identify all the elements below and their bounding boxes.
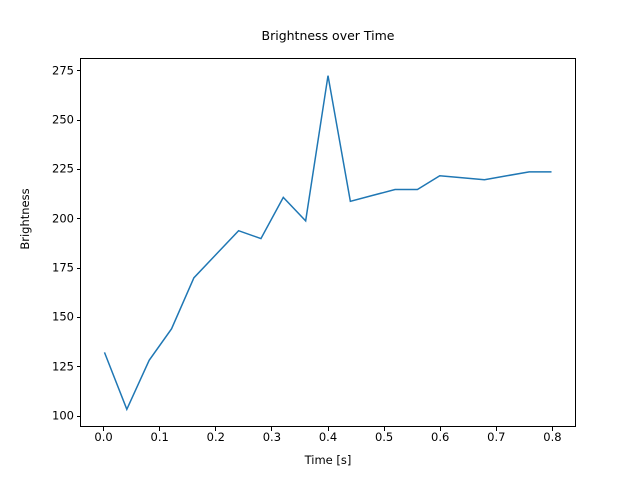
y-tick-label: 175 bbox=[34, 262, 74, 274]
y-tick-label: 275 bbox=[34, 65, 74, 77]
x-tick-label: 0.5 bbox=[361, 432, 407, 444]
y-tick-label: 125 bbox=[34, 361, 74, 373]
x-tick-label: 0.3 bbox=[249, 432, 295, 444]
x-axis-label: Time [s] bbox=[80, 453, 576, 467]
x-tick-label: 0.4 bbox=[305, 432, 351, 444]
plot-area bbox=[80, 58, 576, 427]
y-tick-label: 225 bbox=[34, 164, 74, 176]
chart-figure: Brightness over Time Brightness 10012515… bbox=[0, 0, 640, 480]
x-tick-label: 0.2 bbox=[193, 432, 239, 444]
x-tick-label: 0.1 bbox=[137, 432, 183, 444]
x-tick-label: 0.7 bbox=[473, 432, 519, 444]
y-tick-label: 200 bbox=[34, 213, 74, 225]
x-tick-label: 0.0 bbox=[81, 432, 127, 444]
y-tick-label: 100 bbox=[34, 410, 74, 422]
x-tick-label: 0.6 bbox=[417, 432, 463, 444]
chart-title: Brightness over Time bbox=[80, 28, 576, 43]
data-line-series bbox=[81, 59, 575, 426]
brightness-line bbox=[104, 76, 551, 410]
y-axis-tick-labels: 100125150175200225250275 bbox=[30, 58, 74, 427]
y-tick-label: 250 bbox=[34, 114, 74, 126]
y-tick-label: 150 bbox=[34, 312, 74, 324]
x-tick-label: 0.8 bbox=[529, 432, 575, 444]
x-axis-tick-labels: 0.00.10.20.30.40.50.60.70.8 bbox=[80, 432, 576, 448]
